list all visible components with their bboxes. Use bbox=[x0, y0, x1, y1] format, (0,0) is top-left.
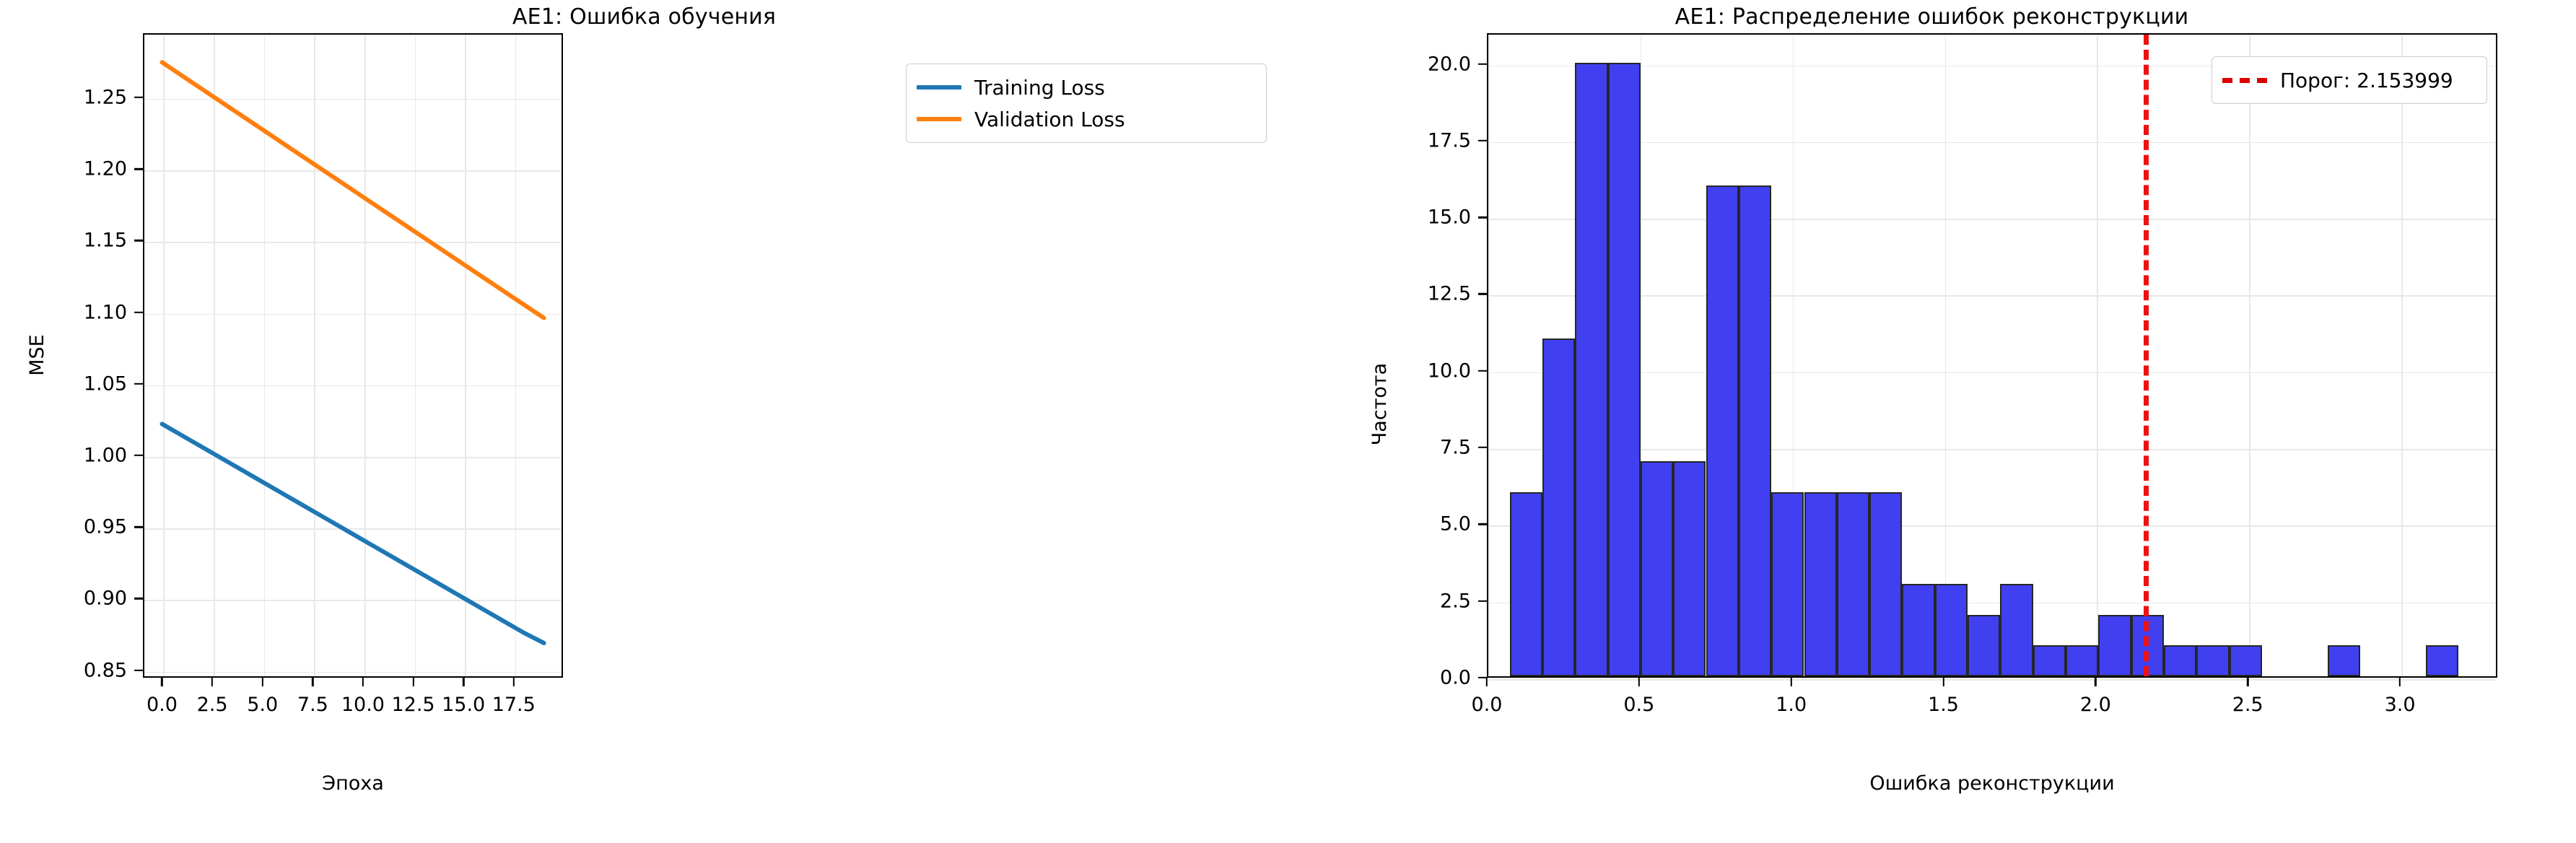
legend-label-threshold: Порог: 2.153999 bbox=[2280, 69, 2453, 92]
y-tick-label: 12.5 bbox=[1415, 283, 1471, 305]
legend-item-training-loss[interactable]: Training Loss bbox=[917, 71, 1254, 103]
x-tick-label: 2.0 bbox=[2080, 694, 2111, 716]
y-tick-mark bbox=[1478, 293, 1487, 294]
x-tick-mark bbox=[1486, 678, 1488, 686]
left-axis-label-x: Эпоха bbox=[322, 772, 384, 795]
y-tick-mark bbox=[1478, 447, 1487, 448]
panel-training-loss: AE1: Ошибка обучения 0.850.900.951.001.0… bbox=[0, 0, 1288, 843]
legend-label-validation-loss: Validation Loss bbox=[974, 108, 1125, 131]
y-tick-label: 20.0 bbox=[1415, 53, 1471, 75]
left-axis-label-y: MSE bbox=[26, 334, 48, 376]
legend-item-validation-loss[interactable]: Validation Loss bbox=[917, 103, 1254, 135]
y-tick-label: 0.0 bbox=[1415, 667, 1471, 689]
x-tick-mark bbox=[2095, 678, 2096, 686]
y-tick-mark bbox=[1478, 523, 1487, 525]
legend-item-threshold[interactable]: Порог: 2.153999 bbox=[2222, 64, 2475, 96]
right-overlay: 0.02.55.07.510.012.515.017.520.00.00.51.… bbox=[1288, 0, 2576, 843]
y-tick-mark bbox=[1478, 140, 1487, 141]
y-tick-label: 2.5 bbox=[1415, 590, 1471, 612]
y-tick-mark bbox=[1478, 217, 1487, 218]
panel-reconstruction-error: AE1: Распределение ошибок реконструкции … bbox=[1288, 0, 2576, 843]
series-line-validation-loss bbox=[162, 62, 543, 318]
x-tick-mark bbox=[1790, 678, 1791, 686]
x-tick-mark bbox=[2247, 678, 2248, 686]
right-axis-label-y: Частота bbox=[1368, 363, 1391, 445]
x-tick-label: 2.5 bbox=[2232, 694, 2263, 716]
y-tick-label: 7.5 bbox=[1415, 437, 1471, 459]
x-tick-mark bbox=[1942, 678, 1944, 686]
x-tick-label: 0.5 bbox=[1623, 694, 1654, 716]
legend-label-training-loss: Training Loss bbox=[974, 76, 1105, 100]
y-tick-label: 17.5 bbox=[1415, 129, 1471, 152]
left-legend[interactable]: Training Loss Validation Loss bbox=[906, 64, 1267, 143]
legend-swatch-training-loss bbox=[917, 85, 961, 89]
figure-root: AE1: Ошибка обучения 0.850.900.951.001.0… bbox=[0, 0, 2576, 843]
series-line-training-loss bbox=[162, 424, 543, 643]
y-tick-label: 10.0 bbox=[1415, 359, 1471, 382]
x-tick-label: 1.0 bbox=[1776, 694, 1807, 716]
y-tick-label: 5.0 bbox=[1415, 513, 1471, 536]
right-legend[interactable]: Порог: 2.153999 bbox=[2212, 56, 2487, 104]
y-tick-mark bbox=[1478, 63, 1487, 64]
legend-swatch-validation-loss bbox=[917, 117, 961, 121]
legend-swatch-threshold bbox=[2222, 78, 2267, 83]
y-tick-mark bbox=[1478, 370, 1487, 372]
y-tick-mark bbox=[1478, 600, 1487, 601]
x-tick-mark bbox=[2399, 678, 2401, 686]
x-tick-label: 3.0 bbox=[2385, 694, 2416, 716]
y-tick-label: 15.0 bbox=[1415, 206, 1471, 229]
x-tick-mark bbox=[1638, 678, 1640, 686]
x-tick-label: 1.5 bbox=[1928, 694, 1959, 716]
x-tick-label: 0.0 bbox=[1472, 694, 1503, 716]
right-axis-label-x: Ошибка реконструкции bbox=[1869, 772, 2114, 795]
